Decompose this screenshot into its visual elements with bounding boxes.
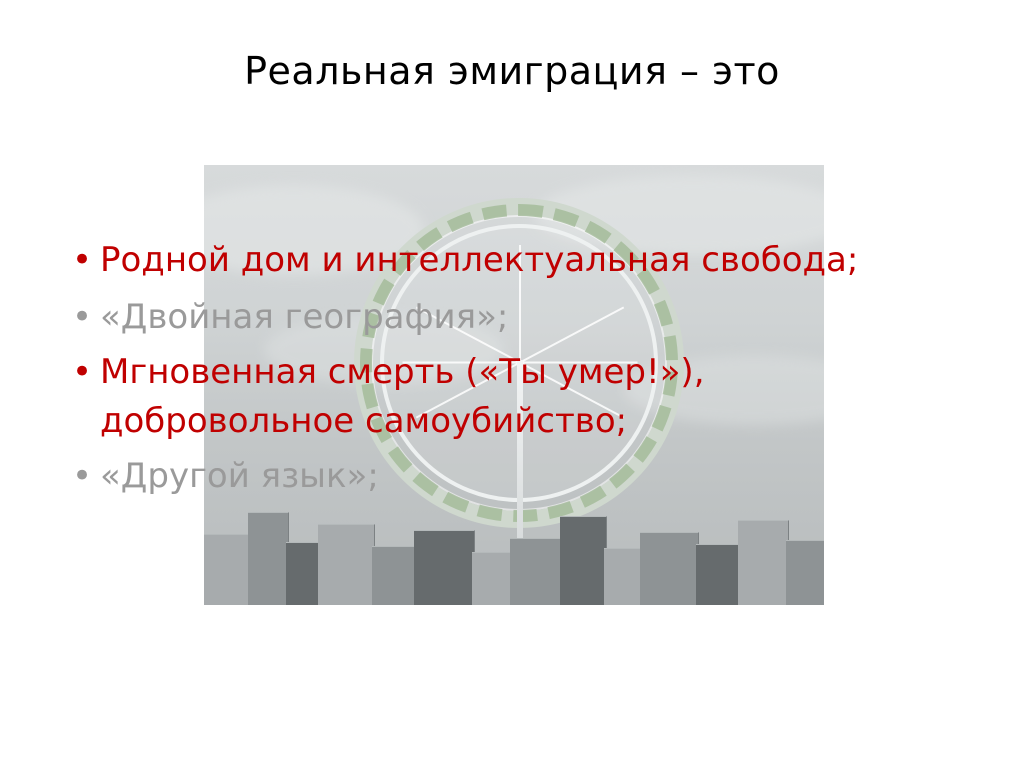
list-item-label: «Другой язык»; [100, 456, 379, 496]
bullet-glyph: • [72, 452, 92, 501]
city-building [510, 538, 563, 605]
list-item-label: Родной дом и интеллектуальная свобода; [100, 240, 858, 280]
city-building [738, 520, 789, 605]
list-item-label: Мгновенная смерть («Ты умер!»), добровол… [100, 352, 705, 441]
city-building [604, 548, 643, 605]
city-building [286, 542, 321, 605]
city-building [248, 512, 289, 605]
city-building [204, 534, 253, 605]
bullet-glyph: • [72, 348, 92, 397]
city-building [372, 546, 417, 605]
list-item: • Мгновенная смерть («Ты умер!»), добров… [58, 348, 958, 446]
page-title: Реальная эмиграция – это [0, 48, 1024, 94]
slide: Реальная эмиграция – это • [0, 0, 1024, 768]
bullet-glyph: • [72, 293, 92, 342]
city-building [560, 516, 607, 605]
list-item: • «Другой язык»; [58, 452, 958, 501]
city-building [696, 544, 741, 605]
list-item-label: «Двойная география»; [100, 297, 508, 337]
bullet-list: • Родной дом и интеллектуальная свобода;… [58, 236, 958, 501]
list-item: • «Двойная география»; [58, 293, 958, 342]
bullet-glyph: • [72, 236, 92, 285]
list-item: • Родной дом и интеллектуальная свобода; [58, 236, 958, 285]
city-building [472, 552, 513, 605]
city-building [640, 532, 699, 605]
city-building [786, 540, 824, 605]
city-building [414, 530, 475, 605]
city-building [318, 524, 375, 605]
